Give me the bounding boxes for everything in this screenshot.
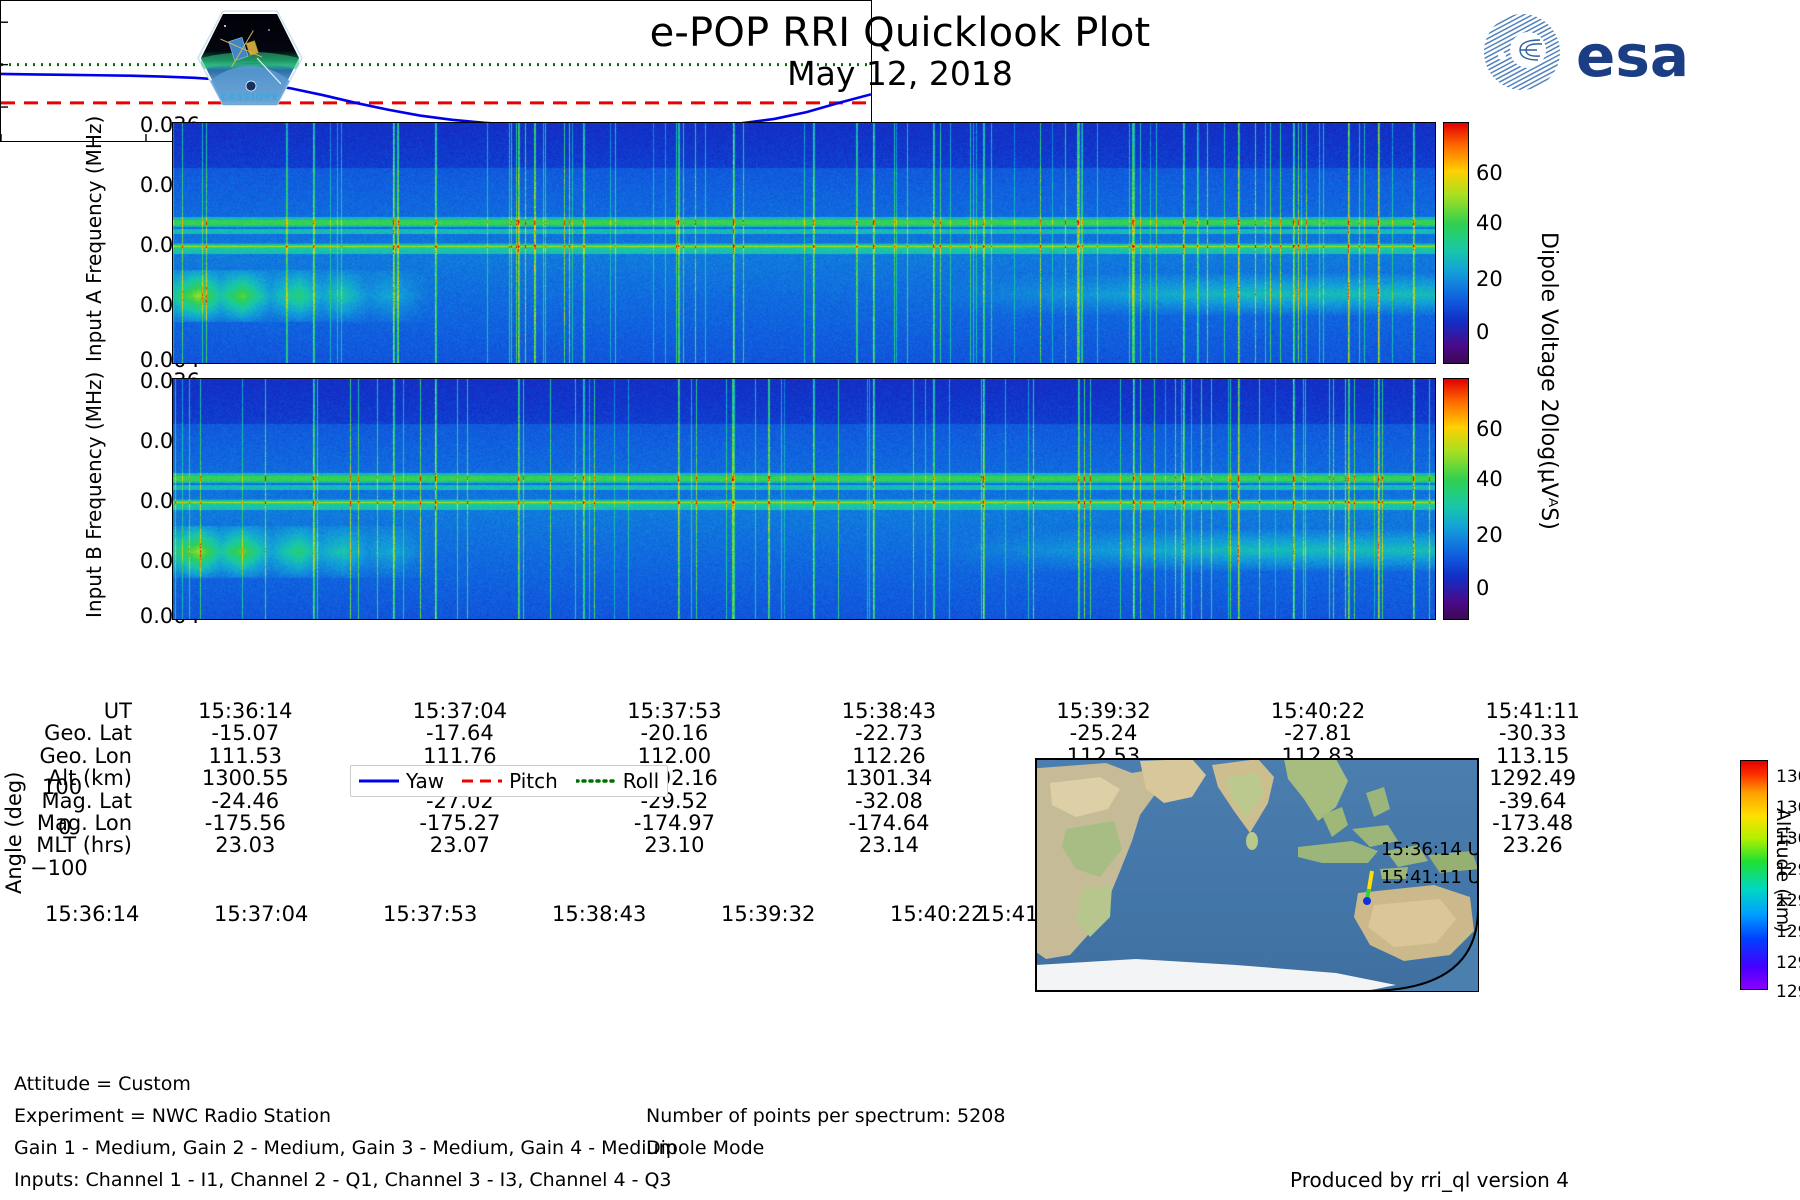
attitude-xtick: 15:37:04 bbox=[214, 902, 308, 926]
esa-logo: esa bbox=[1480, 10, 1690, 90]
ground-track-map[interactable]: 15:36:14 UT 15:41:11 UT bbox=[1035, 758, 1479, 992]
colorbar-b-tick-40: 40 bbox=[1476, 467, 1503, 491]
attitude-xtick-row: 15:36:1415:37:0415:37:5315:38:4315:39:32… bbox=[0, 902, 1030, 930]
ephemeris-cell: 15:38:43 bbox=[782, 700, 997, 722]
footer-attitude: Attitude = Custom bbox=[14, 1073, 191, 1095]
ephemeris-cell: -30.33 bbox=[1425, 722, 1640, 744]
ephemeris-cell: -175.56 bbox=[138, 812, 353, 834]
ephemeris-cell: 15:40:22 bbox=[1211, 700, 1426, 722]
ephemeris-row: UT15:36:1415:37:0415:37:5315:38:4315:39:… bbox=[0, 700, 1640, 722]
alt-tick-1290: 1290 bbox=[1776, 982, 1800, 1002]
colorbar-a-tick-60: 60 bbox=[1476, 161, 1503, 185]
ephemeris-cell: 111.76 bbox=[353, 745, 568, 767]
spectrogram-b-ylabel: Input B Frequency (MHz) bbox=[82, 376, 106, 618]
ephemeris-cell: 15:36:14 bbox=[138, 700, 353, 722]
ephemeris-row-label: Geo. Lon bbox=[0, 745, 138, 767]
attitude-xtick: 15:40:22 bbox=[890, 902, 984, 926]
colorbar-a-tick-40: 40 bbox=[1476, 211, 1503, 235]
ephemeris-cell: -174.64 bbox=[782, 812, 997, 834]
colorbar-label-text: Dipole Voltage 20log(μVᴬS) bbox=[1536, 232, 1561, 530]
esa-logo-text: esa bbox=[1576, 22, 1689, 90]
ephemeris-cell: 111.53 bbox=[138, 745, 353, 767]
attitude-xtick: 15:38:43 bbox=[552, 902, 646, 926]
colorbar-b-tick-60: 60 bbox=[1476, 417, 1503, 441]
footer-gains: Gain 1 - Medium, Gain 2 - Medium, Gain 3… bbox=[14, 1137, 677, 1159]
cassiope-logo: CASSIOPE bbox=[195, 8, 305, 108]
ephemeris-cell: 23.14 bbox=[782, 834, 997, 856]
colorbar-b-tick-20: 20 bbox=[1476, 523, 1503, 547]
spectrogram-input-b[interactable] bbox=[172, 378, 1436, 620]
cassiope-logo-text: CASSIOPE bbox=[221, 93, 280, 103]
ephemeris-cell: 1301.34 bbox=[782, 767, 997, 789]
footer-inputs: Inputs: Channel 1 - I1, Channel 2 - Q1, … bbox=[14, 1169, 672, 1191]
map-end-time-label: 15:41:11 UT bbox=[1381, 867, 1479, 888]
colorbar-b-tick-0: 0 bbox=[1476, 576, 1489, 600]
spectrogram-input-a[interactable] bbox=[172, 122, 1436, 364]
altitude-colorbar bbox=[1740, 760, 1768, 990]
alt-tick-1302: 1302 bbox=[1776, 798, 1800, 818]
alt-tick-1296: 1296 bbox=[1776, 891, 1800, 911]
colorbar-a bbox=[1443, 122, 1469, 364]
attitude-xtick: 15:36:14 bbox=[45, 902, 139, 926]
legend-item-yaw: Yaw bbox=[359, 769, 444, 793]
legend-label-yaw: Yaw bbox=[406, 769, 444, 793]
footer-experiment: Experiment = NWC Radio Station bbox=[14, 1105, 331, 1127]
alt-tick-1304: 1304 bbox=[1776, 767, 1800, 787]
ephemeris-cell: 23.10 bbox=[567, 834, 782, 856]
ephemeris-cell: -20.16 bbox=[567, 722, 782, 744]
ephemeris-cell: 23.03 bbox=[138, 834, 353, 856]
alt-tick-1300: 1300 bbox=[1776, 829, 1800, 849]
attitude-ylabel: Angle (deg) bbox=[2, 768, 26, 898]
attitude-ytick-100: 100 bbox=[42, 775, 82, 799]
colorbar-axis-label: Dipole Voltage 20log(μVᴬS) bbox=[1536, 232, 1561, 530]
legend-label-roll: Roll bbox=[623, 769, 659, 793]
colorbar-b bbox=[1443, 378, 1469, 620]
ephemeris-cell: -32.08 bbox=[782, 790, 997, 812]
ephemeris-cell: 112.26 bbox=[782, 745, 997, 767]
attitude-legend: Yaw Pitch Roll bbox=[350, 765, 668, 797]
ephemeris-cell: -15.07 bbox=[138, 722, 353, 744]
map-start-time-label: 15:36:14 UT bbox=[1381, 839, 1479, 860]
ephemeris-cell: 15:39:32 bbox=[996, 700, 1211, 722]
alt-tick-1292: 1292 bbox=[1776, 953, 1800, 973]
ephemeris-cell: 15:37:04 bbox=[353, 700, 568, 722]
legend-item-roll: Roll bbox=[576, 769, 659, 793]
ephemeris-cell: 1300.55 bbox=[138, 767, 353, 789]
colorbar-a-tick-0: 0 bbox=[1476, 320, 1489, 344]
ephemeris-cell: -17.64 bbox=[353, 722, 568, 744]
ephemeris-row: Geo. Lat-15.07-17.64-20.16-22.73-25.24-2… bbox=[0, 722, 1640, 744]
attitude-ytick-m100: −100 bbox=[30, 856, 88, 880]
attitude-ytick-0: 0 bbox=[58, 815, 71, 839]
attitude-xtick: 15:37:53 bbox=[383, 902, 477, 926]
footer-points-per-spectrum: Number of points per spectrum: 5208 bbox=[646, 1105, 1005, 1127]
alt-tick-1294: 1294 bbox=[1776, 922, 1800, 942]
attitude-xtick: 15:39:32 bbox=[721, 902, 815, 926]
legend-item-pitch: Pitch bbox=[462, 769, 558, 793]
ephemeris-row-label: UT bbox=[0, 700, 138, 722]
ephemeris-cell: -175.27 bbox=[353, 812, 568, 834]
ephemeris-cell: -174.97 bbox=[567, 812, 782, 834]
ephemeris-cell: -22.73 bbox=[782, 722, 997, 744]
ephemeris-cell: 15:41:11 bbox=[1425, 700, 1640, 722]
ephemeris-cell: 112.00 bbox=[567, 745, 782, 767]
ephemeris-cell: 15:37:53 bbox=[567, 700, 782, 722]
footer-produced-by: Produced by rri_ql version 4 bbox=[1290, 1168, 1569, 1192]
footer-mode: Dipole Mode bbox=[646, 1137, 764, 1159]
ephemeris-row-label: Geo. Lat bbox=[0, 722, 138, 744]
legend-label-pitch: Pitch bbox=[509, 769, 558, 793]
ephemeris-cell: -25.24 bbox=[996, 722, 1211, 744]
ephemeris-cell: -24.46 bbox=[138, 790, 353, 812]
colorbar-a-tick-20: 20 bbox=[1476, 267, 1503, 291]
alt-tick-1298: 1298 bbox=[1776, 860, 1800, 880]
ephemeris-cell: -27.81 bbox=[1211, 722, 1426, 744]
spectrogram-a-ylabel: Input A Frequency (MHz) bbox=[82, 120, 106, 362]
ephemeris-cell: 23.07 bbox=[353, 834, 568, 856]
